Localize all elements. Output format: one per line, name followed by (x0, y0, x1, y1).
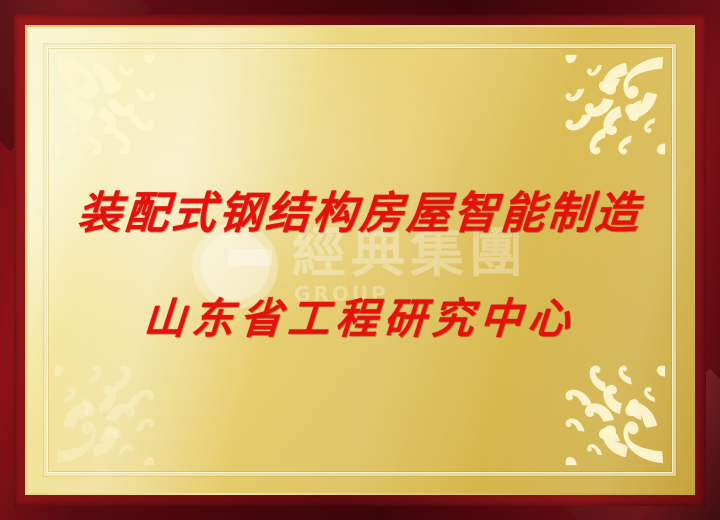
corner-scroll-ornament-bottom-left (49, 353, 167, 471)
gold-plate: 經典集團 GROUP 装配式钢结构房屋智能制造 山东省工程研究中心 (27, 27, 693, 493)
award-plaque: 經典集團 GROUP 装配式钢结构房屋智能制造 山东省工程研究中心 (0, 0, 720, 520)
inscription: 装配式钢结构房屋智能制造 山东省工程研究中心 (27, 177, 693, 346)
inscription-line-1: 装配式钢结构房屋智能制造 (76, 177, 644, 241)
corner-scroll-ornament-top-right (553, 49, 671, 167)
corner-scroll-ornament-bottom-right (553, 353, 671, 471)
inscription-line-2: 山东省工程研究中心 (142, 285, 578, 346)
corner-scroll-ornament-top-left (49, 49, 167, 167)
